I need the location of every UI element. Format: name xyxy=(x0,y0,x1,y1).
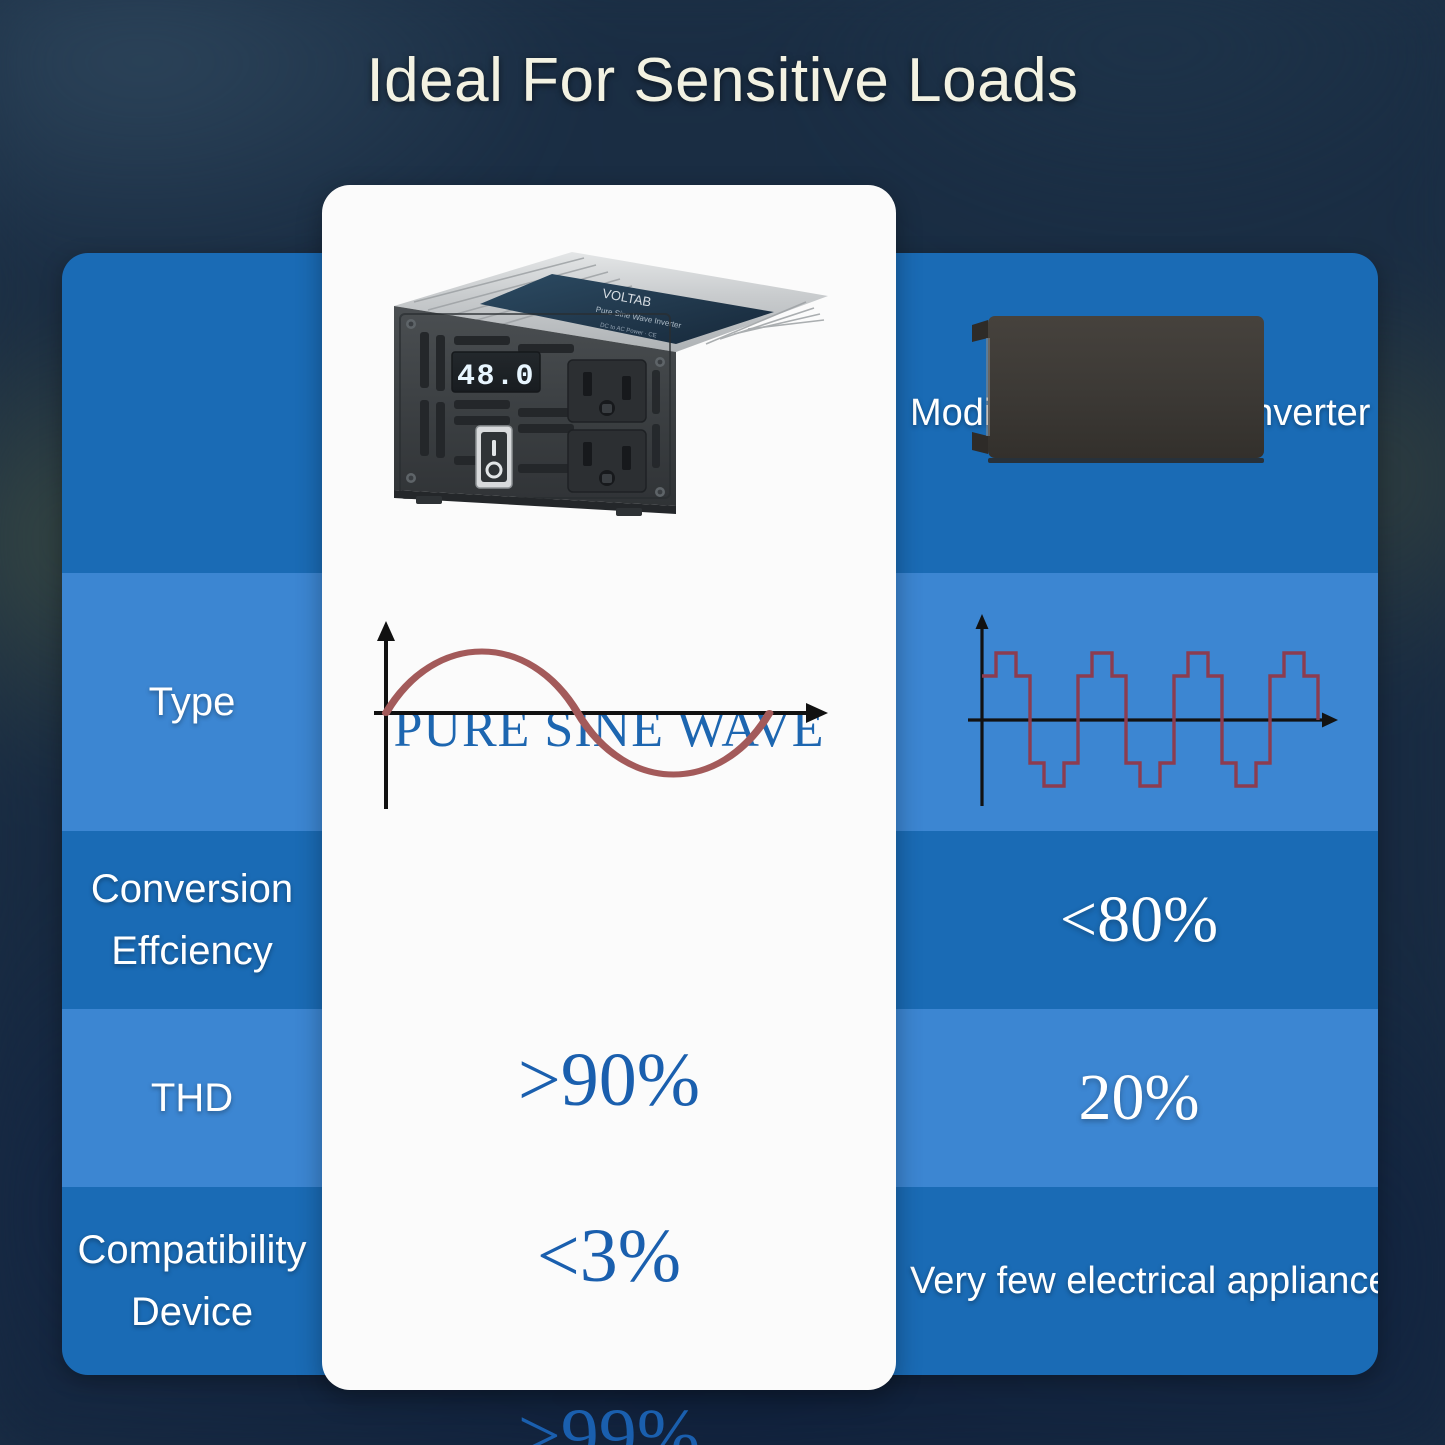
infographic-canvas: Ideal For Sensitive Loads Modifled sine … xyxy=(0,0,1445,1445)
modified-sine-wave-chart xyxy=(958,608,1348,813)
modified-thd-value: 20% xyxy=(900,1060,1378,1136)
modified-efficiency-value: <80% xyxy=(900,882,1378,958)
row-label-compatibility: Compatibility Device xyxy=(62,1219,322,1343)
inverter-display-value: 48.0 xyxy=(457,360,535,394)
pure-efficiency-value: >90% xyxy=(322,1037,896,1124)
pure-compatibility-value: >99% xyxy=(322,1393,896,1445)
pure-thd-value: <3% xyxy=(322,1213,896,1300)
row-label-thd: THD xyxy=(62,1067,322,1129)
row-label-type: Type xyxy=(62,671,322,733)
page-title: Ideal For Sensitive Loads xyxy=(0,45,1445,116)
row-label-conversion-efficiency: Conversion Effciency xyxy=(62,858,322,982)
modified-compatibility-value: Very few electrical appliances xyxy=(900,1260,1378,1303)
row-label-compatibility-line2: Device xyxy=(70,1281,314,1343)
row-label-conversion-efficiency-line1: Conversion xyxy=(70,858,314,920)
pure-sine-wave-chart xyxy=(344,613,874,813)
modified-sine-wave-inverter-photo xyxy=(962,308,1272,473)
row-label-conversion-efficiency-line2: Effciency xyxy=(70,920,314,982)
row-label-compatibility-line1: Compatibility xyxy=(70,1219,314,1281)
pure-sine-wave-card: VOLTAB Pure Sine Wave Inverter DC to AC … xyxy=(322,185,896,1390)
pure-sine-wave-inverter-photo: VOLTAB Pure Sine Wave Inverter DC to AC … xyxy=(376,240,842,520)
